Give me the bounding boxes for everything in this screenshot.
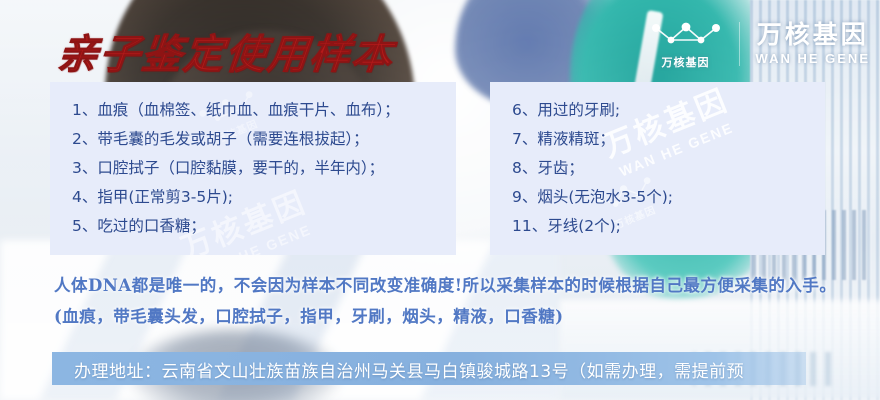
page-title: 亲子鉴定使用样本	[55, 22, 397, 80]
list-item: 1、血痕（血棉签、纸巾血、血痕干片、血布）；	[72, 96, 456, 125]
logo-name-cn: 万核基因	[757, 22, 869, 50]
list-item: 9、烟头(无泡水3-5个);	[512, 183, 825, 212]
list-item: 5、吃过的口香糖；	[72, 212, 456, 241]
list-item: 7、精液精斑；	[512, 125, 825, 154]
list-item: 2、带毛囊的毛发或胡子（需要连根拔起）；	[72, 125, 456, 154]
sample-list-panel-right: 万核基因 WAN HE GENE 万核基因 6、用过的牙刷; 7、精液精斑； 8…	[490, 82, 825, 255]
logo-wordmark: 万核基因 WAN HE GENE	[739, 22, 870, 66]
logo-name-en: WAN HE GENE	[756, 52, 870, 66]
description-paragraph: 人体DNA都是唯一的，不会因为样本不同改变准确度!所以采集样本的时候根据自己最方…	[54, 270, 844, 332]
logo-mark-label: 万核基因	[662, 54, 710, 70]
list-item: 11、牙线(2个);	[512, 212, 825, 241]
list-item: 8、牙齿；	[512, 154, 825, 183]
molecule-icon	[649, 18, 723, 52]
sample-list-left: 1、血痕（血棉签、纸巾血、血痕干片、血布）； 2、带毛囊的毛发或胡子（需要连根拔…	[50, 82, 456, 241]
sample-list-panel-left: 万核基因 万核基因 WAN HE GENE 1、血痕（血棉签、纸巾血、血痕干片、…	[50, 82, 456, 255]
logo-mark: 万核基因	[649, 18, 723, 70]
address-text: 办理地址：云南省文山壮族苗族自治州马关县马白镇骏城路13号（如需办理，需提前预	[74, 353, 880, 386]
sample-list-right: 6、用过的牙刷; 7、精液精斑； 8、牙齿； 9、烟头(无泡水3-5个); 11…	[490, 82, 825, 241]
poster-canvas: 亲子鉴定使用样本 万核基因 万核基因 WAN HE GENE	[0, 0, 880, 400]
list-item: 3、口腔拭子（口腔黏膜，要干的，半年内）；	[72, 154, 456, 183]
brand-logo: 万核基因 万核基因 WAN HE GENE	[649, 18, 870, 70]
list-item: 6、用过的牙刷;	[512, 96, 825, 125]
list-item: 4、指甲(正常剪3-5片);	[72, 183, 456, 212]
